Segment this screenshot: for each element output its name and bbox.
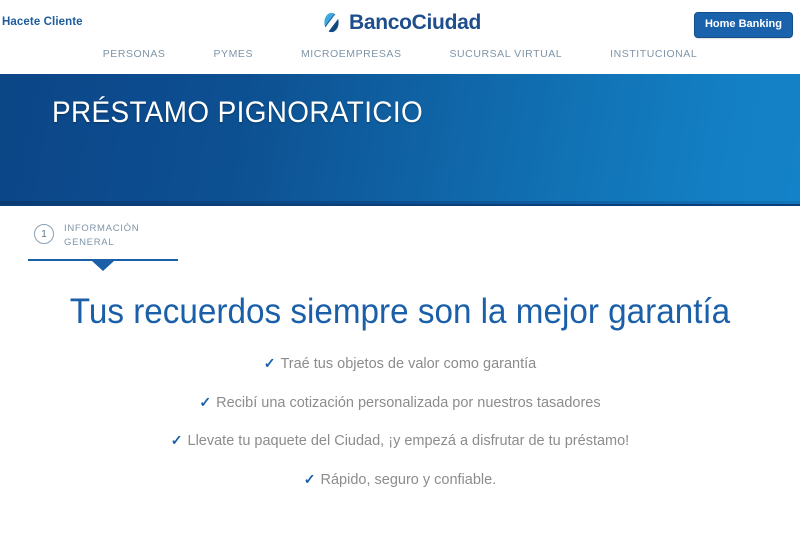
home-banking-button[interactable]: Home Banking bbox=[694, 12, 793, 38]
hacete-cliente-link[interactable]: Hacete Cliente bbox=[2, 16, 83, 28]
nav-item-microempresas[interactable]: MICROEMPRESAS bbox=[277, 48, 426, 60]
main-navigation: PERSONAS PYMES MICROEMPRESAS SUCURSAL VI… bbox=[0, 48, 800, 74]
list-item-text: Recibí una cotización personalizada por … bbox=[216, 395, 600, 411]
content-headline: Tus recuerdos siempre son la mejor garan… bbox=[20, 292, 780, 332]
list-item-text: Traé tus objetos de valor como garantía bbox=[280, 356, 536, 372]
main-content: Tus recuerdos siempre son la mejor garan… bbox=[0, 276, 800, 487]
step-item-informacion-general[interactable]: 1 INFORMACIÓN GENERAL bbox=[34, 221, 139, 250]
nav-item-institucional[interactable]: INSTITUCIONAL bbox=[586, 48, 721, 60]
step-active-pointer-icon bbox=[92, 261, 114, 271]
nav-item-sucursal-virtual[interactable]: SUCURSAL VIRTUAL bbox=[426, 48, 587, 60]
hero-banner: PRÉSTAMO PIGNORATICIO bbox=[0, 74, 800, 206]
list-item: ✓Llevate tu paquete del Ciudad, ¡y empez… bbox=[0, 433, 800, 449]
nav-item-pymes[interactable]: PYMES bbox=[189, 48, 277, 60]
list-item-text: Rápido, seguro y confiable. bbox=[321, 472, 497, 488]
step-indicator: 1 INFORMACIÓN GENERAL bbox=[0, 206, 800, 276]
check-icon: ✓ bbox=[199, 394, 211, 410]
step-label: INFORMACIÓN GENERAL bbox=[64, 221, 139, 250]
list-item: ✓Recibí una cotización personalizada por… bbox=[0, 395, 800, 411]
brand-name: BancoCiudad bbox=[349, 12, 481, 33]
benefits-list: ✓Traé tus objetos de valor como garantía… bbox=[0, 356, 800, 487]
nav-item-personas[interactable]: PERSONAS bbox=[79, 48, 190, 60]
top-bar: Hacete Cliente BancoCiudad Home Banking bbox=[0, 0, 800, 48]
step-number-badge: 1 bbox=[34, 224, 54, 244]
list-item-text: Llevate tu paquete del Ciudad, ¡y empezá… bbox=[188, 433, 630, 449]
check-icon: ✓ bbox=[264, 355, 276, 371]
bancociudad-ellipse-logo-icon bbox=[319, 9, 344, 36]
list-item: ✓Rápido, seguro y confiable. bbox=[0, 472, 800, 488]
site-logo[interactable]: BancoCiudad bbox=[319, 9, 481, 36]
list-item: ✓Traé tus objetos de valor como garantía bbox=[0, 356, 800, 372]
page-title: PRÉSTAMO PIGNORATICIO bbox=[52, 96, 423, 130]
check-icon: ✓ bbox=[304, 471, 316, 487]
check-icon: ✓ bbox=[171, 432, 183, 448]
